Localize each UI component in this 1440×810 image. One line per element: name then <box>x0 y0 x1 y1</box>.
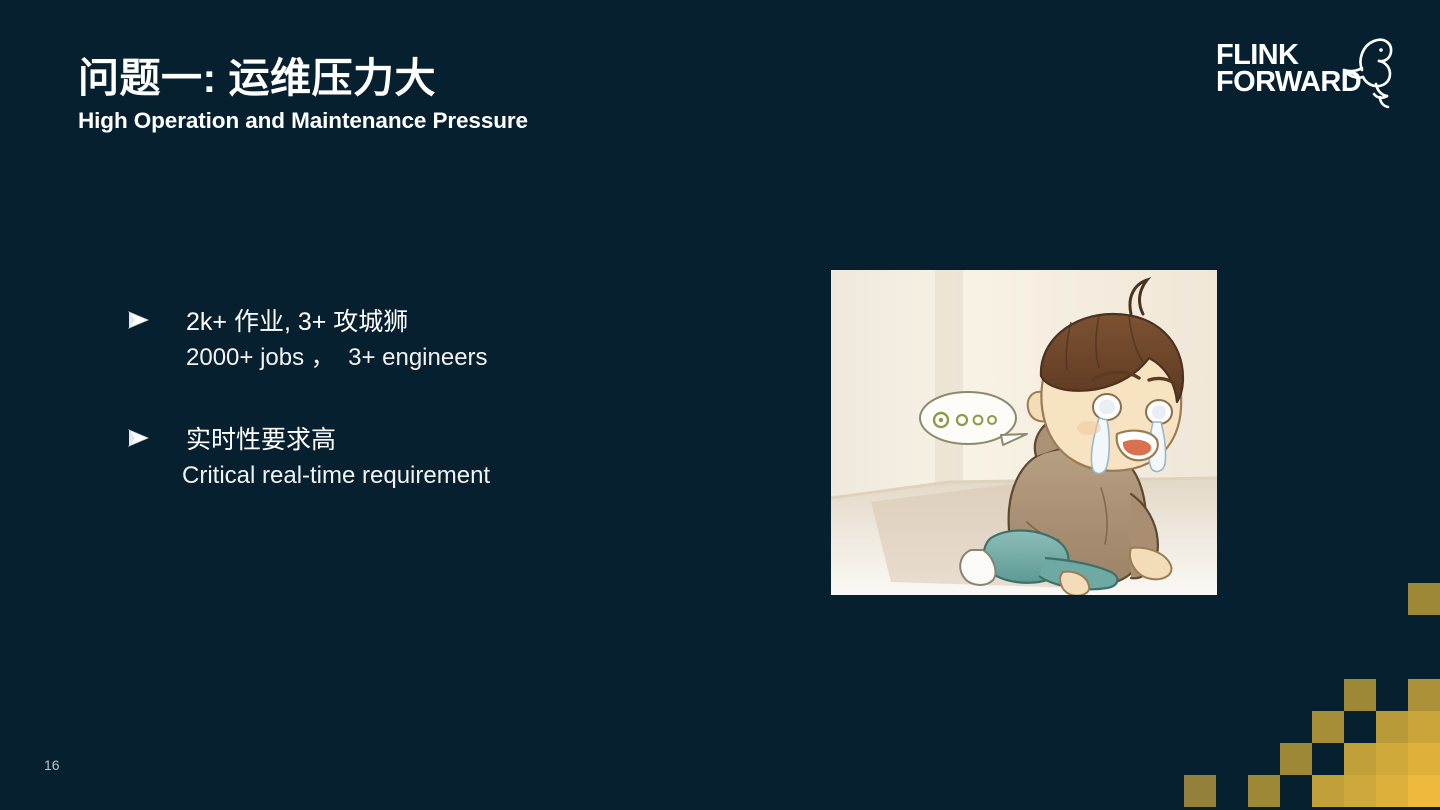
decorative-square <box>1408 743 1440 775</box>
list-item-english: 2000+ jobs ， 3+ engineers <box>186 341 746 376</box>
decorative-square <box>1376 743 1408 775</box>
page-title: 问题一: 运维压力大 <box>78 56 938 102</box>
decorative-square <box>1344 679 1376 711</box>
title-block: 问题一: 运维压力大 High Operation and Maintenanc… <box>78 56 938 134</box>
crying-boy-illustration <box>831 270 1217 595</box>
page-number: 16 <box>44 757 60 773</box>
decorative-square <box>1408 775 1440 807</box>
list-item: 实时性要求高 Critical real-time requirement <box>126 423 746 493</box>
decorative-square <box>1376 711 1408 743</box>
decorative-square <box>1184 775 1216 807</box>
decorative-square <box>1280 743 1312 775</box>
arrow-bullet-icon <box>126 425 152 451</box>
list-item: 2k+ 作业, 3+ 攻城狮 2000+ jobs ， 3+ engineers <box>126 305 746 375</box>
decorative-square <box>1408 583 1440 615</box>
illustration-artwork <box>831 270 1217 595</box>
list-item-text: 实时性要求高 Critical real-time requirement <box>186 423 746 493</box>
flink-forward-logo: FLINKFORWARD <box>1216 34 1396 116</box>
arrow-bullet-icon <box>126 307 152 333</box>
decorative-square <box>1312 775 1344 807</box>
decorative-square <box>1344 775 1376 807</box>
bullet-list: 2k+ 作业, 3+ 攻城狮 2000+ jobs ， 3+ engineers… <box>126 305 746 494</box>
decorative-square <box>1408 679 1440 711</box>
list-item-english: Critical real-time requirement <box>182 459 746 494</box>
list-item-text: 2k+ 作业, 3+ 攻城狮 2000+ jobs ， 3+ engineers <box>186 305 746 375</box>
decorative-square <box>1344 743 1376 775</box>
decorative-square <box>1408 711 1440 743</box>
page-subtitle: High Operation and Maintenance Pressure <box>78 108 938 134</box>
decorative-square <box>1376 775 1408 807</box>
squirrel-icon <box>1332 34 1396 110</box>
list-item-chinese: 实时性要求高 <box>186 423 746 459</box>
decorative-square <box>1248 775 1280 807</box>
decorative-square <box>1312 711 1344 743</box>
slide-canvas: 问题一: 运维压力大 High Operation and Maintenanc… <box>0 0 1440 810</box>
list-item-chinese: 2k+ 作业, 3+ 攻城狮 <box>186 305 746 341</box>
